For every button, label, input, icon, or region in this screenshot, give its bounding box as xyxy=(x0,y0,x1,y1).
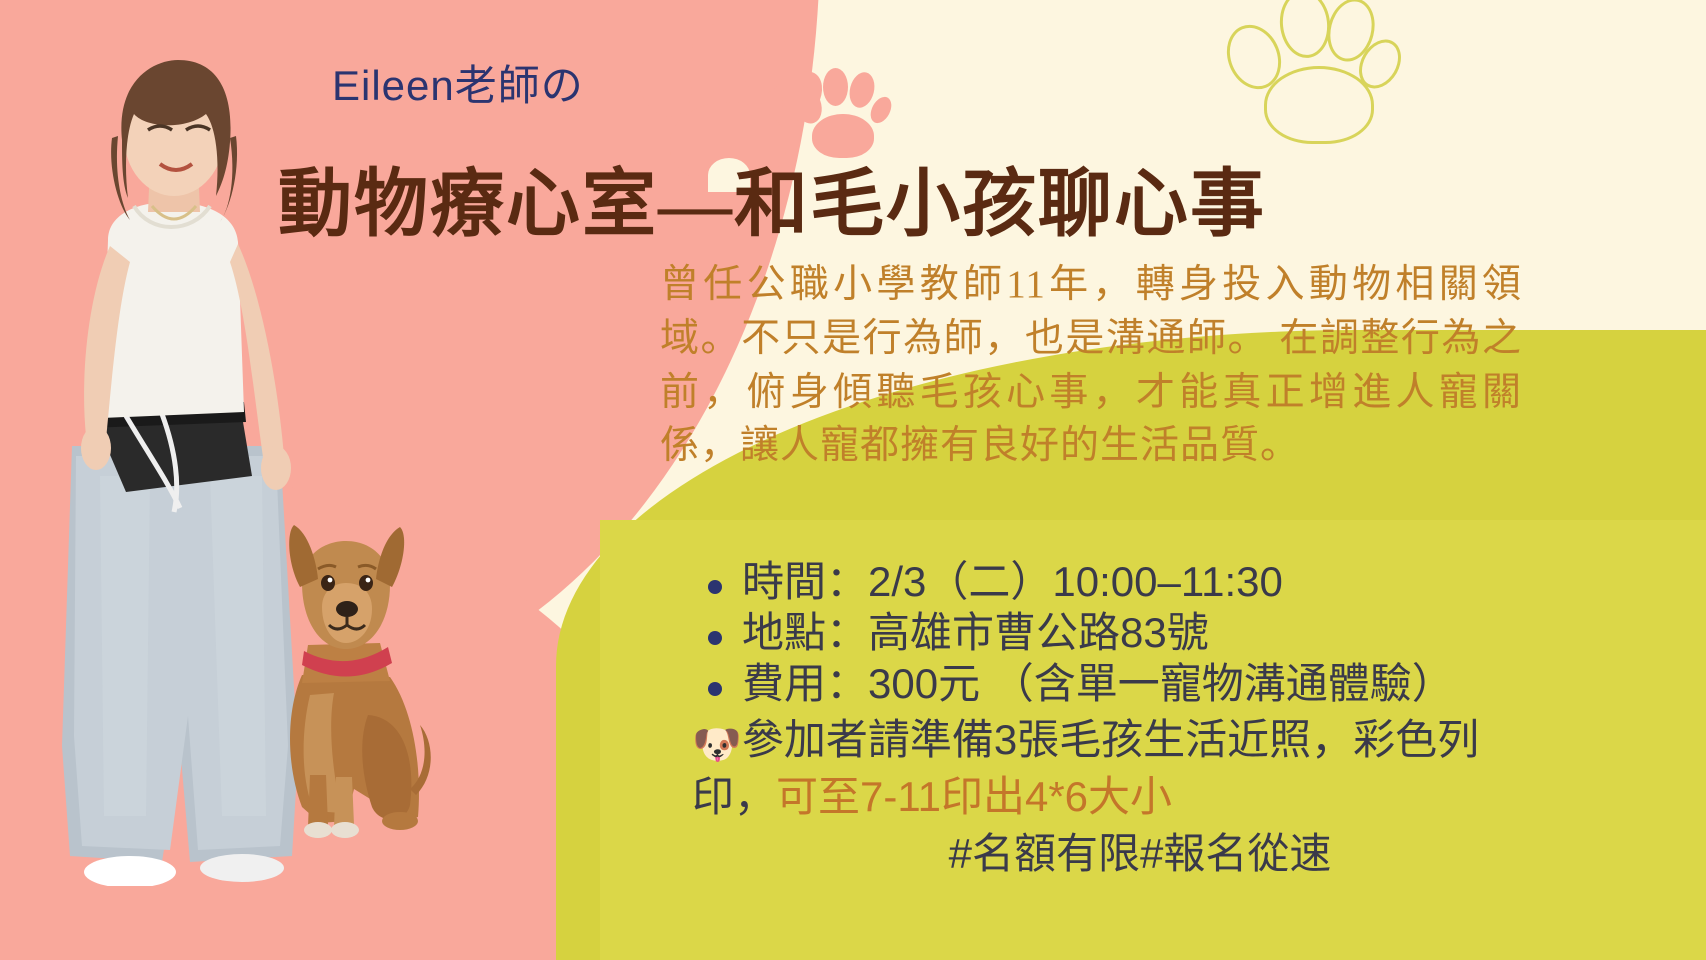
paw-print-outline-icon xyxy=(1228,0,1393,129)
page-title: 動物療心室—和毛小孩聊心事 xyxy=(278,144,1266,251)
hashtags: #名額有限#報名從速 xyxy=(700,820,1580,881)
paw-print-icon xyxy=(790,66,890,154)
list-item-place: 地點：高雄市曹公路83號 xyxy=(700,607,1600,658)
details-list: 時間：2/3（二）10:00–11:30 地點：高雄市曹公路83號 費用：300… xyxy=(700,556,1600,710)
poster-canvas: Eileen老師の 動物療心室—和毛小孩聊心事 曾任公職小學教師11年，轉身投入… xyxy=(0,0,1706,960)
dog-photo xyxy=(250,525,435,850)
preparation-note: 🐶參加者請準備3張毛孩生活近照，彩色列印，可至7-11印出4*6大小 xyxy=(692,714,1552,823)
bio-paragraph: 曾任公職小學教師11年，轉身投入動物相關領域。不只是行為師，也是溝通師。 在調整… xyxy=(660,258,1522,473)
dog-face-icon: 🐶 xyxy=(692,723,742,767)
list-item-fee: 費用：300元 （含單一寵物溝通體驗） xyxy=(700,658,1600,709)
preparation-note-highlight: 可至7-11印出4*6大小 xyxy=(776,773,1172,820)
eyebrow-text: Eileen老師の xyxy=(332,52,584,113)
list-item-time: 時間：2/3（二）10:00–11:30 xyxy=(700,556,1600,607)
